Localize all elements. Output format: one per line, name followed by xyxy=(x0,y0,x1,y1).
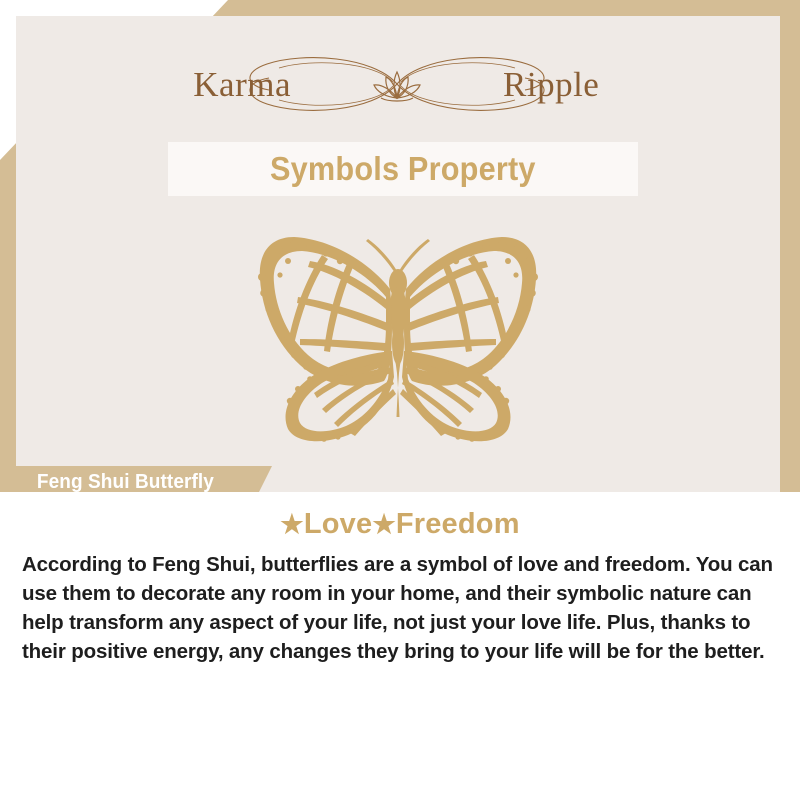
star-icon-middle: ★ xyxy=(372,509,396,539)
butterfly-illustration xyxy=(16,216,780,461)
brand-name-left: Karma xyxy=(193,65,291,104)
description-paragraph: According to Feng Shui, butterflies are … xyxy=(22,550,784,666)
brand-logo: Karma Ripple xyxy=(16,44,780,126)
tag-label: Feng Shui Butterfly xyxy=(16,471,214,494)
infinity-swirl-icon xyxy=(250,58,544,111)
page-title: Symbols Property xyxy=(270,150,536,188)
love-freedom-subheading: ★Love★Freedom xyxy=(0,508,800,541)
poster-canvas: Karma Ripple Symbols Property xyxy=(0,0,800,800)
brand-name-right: Ripple xyxy=(503,65,599,104)
monarch-butterfly-icon xyxy=(218,231,578,446)
content-panel: Karma Ripple Symbols Property xyxy=(16,16,780,492)
subhead-word-freedom: Freedom xyxy=(396,508,520,540)
star-icon-left: ★ xyxy=(280,509,304,539)
description-section: ★Love★Freedom According to Feng Shui, bu… xyxy=(0,492,800,800)
subhead-word-love: Love xyxy=(304,508,373,540)
brand-logo-svg: Karma Ripple xyxy=(183,46,613,124)
title-band: Symbols Property xyxy=(168,142,638,196)
